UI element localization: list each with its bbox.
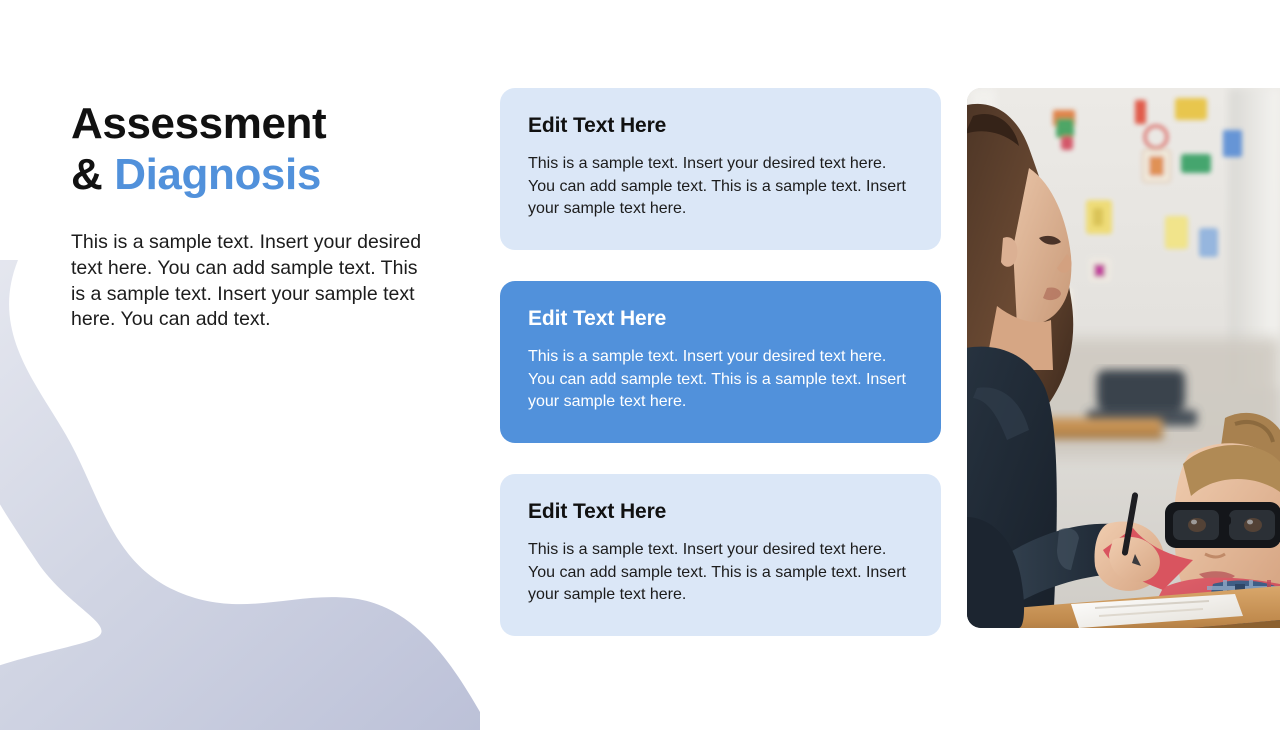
page-title-line-1: Assessment [71, 98, 443, 149]
page-title-accent-word: Diagnosis [114, 150, 321, 199]
page-title-line-2: & Diagnosis [71, 149, 443, 200]
info-card-1[interactable]: Edit Text Here This is a sample text. In… [500, 88, 941, 250]
page-title: Assessment & Diagnosis [71, 98, 443, 200]
cards-list: Edit Text Here This is a sample text. In… [500, 88, 941, 636]
title-block: Assessment & Diagnosis This is a sample … [71, 98, 443, 333]
info-card-2[interactable]: Edit Text Here This is a sample text. In… [500, 281, 941, 443]
info-card-2-heading: Edit Text Here [528, 307, 913, 331]
info-card-1-body: This is a sample text. Insert your desir… [528, 153, 913, 221]
page-title-ampersand: & [71, 150, 102, 199]
intro-paragraph: This is a sample text. Insert your desir… [71, 200, 437, 333]
info-card-3[interactable]: Edit Text Here This is a sample text. In… [500, 474, 941, 636]
info-card-2-body: This is a sample text. Insert your desir… [528, 346, 913, 414]
info-card-3-body: This is a sample text. Insert your desir… [528, 539, 913, 607]
info-card-1-heading: Edit Text Here [528, 114, 913, 138]
info-card-3-heading: Edit Text Here [528, 500, 913, 524]
classroom-photo [967, 88, 1280, 628]
